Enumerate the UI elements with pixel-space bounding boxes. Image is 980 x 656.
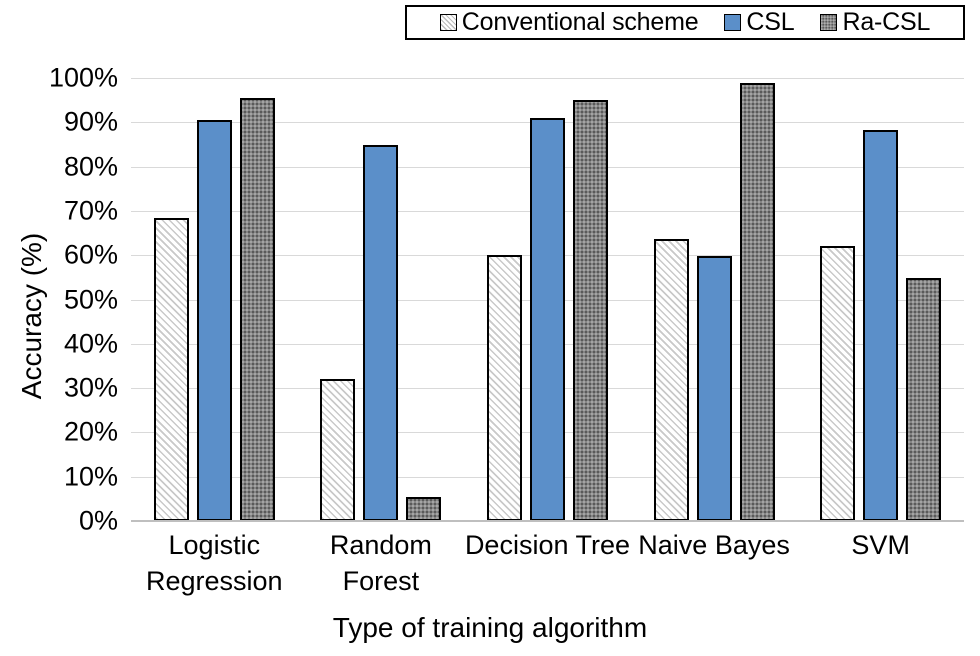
- legend-label-conventional-scheme: Conventional scheme: [462, 10, 699, 35]
- x-axis-line: [131, 520, 964, 522]
- x-axis-title: Type of training algorithm: [0, 612, 980, 644]
- bar[interactable]: [363, 145, 398, 521]
- x-axis-tick-label-line: Decision Tree: [464, 527, 631, 563]
- y-axis-ticks: 100%90%80%70%60%50%40%30%20%10%0%: [36, 78, 124, 521]
- legend-swatch-csl-icon: [724, 14, 741, 31]
- bar[interactable]: [573, 100, 608, 521]
- bar[interactable]: [530, 118, 565, 521]
- bar[interactable]: [863, 130, 898, 521]
- bar-group: [797, 78, 964, 521]
- bar[interactable]: [197, 120, 232, 521]
- y-axis-tick-label: 30%: [64, 375, 118, 402]
- bar[interactable]: [240, 98, 275, 521]
- legend-swatch-racsl-icon: [820, 14, 837, 31]
- legend-label-csl: CSL: [746, 10, 794, 35]
- y-axis-tick-label: 50%: [64, 286, 118, 313]
- bar-group: [631, 78, 798, 521]
- x-axis-tick-label-line: Forest: [298, 563, 465, 599]
- bar[interactable]: [487, 255, 522, 521]
- bar-group: [298, 78, 465, 521]
- y-axis-tick-label: 60%: [64, 242, 118, 269]
- y-axis-tick-label: 100%: [49, 65, 118, 92]
- bar-group: [464, 78, 631, 521]
- legend-item-ra-csl[interactable]: Ra-CSL: [820, 10, 930, 35]
- bar-chart: Conventional scheme CSL Ra-CSL Accuracy …: [0, 0, 980, 656]
- y-axis-tick-label: 70%: [64, 197, 118, 224]
- bar-group: [131, 78, 298, 521]
- legend-swatch-conventional-icon: [440, 14, 457, 31]
- x-axis-tick-label-line: Regression: [131, 563, 298, 599]
- x-axis-tick-label-line: Naive Bayes: [631, 527, 798, 563]
- x-axis-tick-label-line: SVM: [797, 527, 964, 563]
- bar[interactable]: [697, 256, 732, 521]
- x-axis-tick-label: SVM: [797, 527, 964, 563]
- plot-area: [131, 78, 964, 521]
- x-axis-tick-labels: LogisticRegressionRandomForestDecision T…: [131, 527, 964, 607]
- x-axis-tick-label: Decision Tree: [464, 527, 631, 563]
- x-axis-tick-label: LogisticRegression: [131, 527, 298, 599]
- legend-item-csl[interactable]: CSL: [724, 10, 794, 35]
- bar[interactable]: [740, 83, 775, 521]
- bar[interactable]: [154, 218, 189, 521]
- y-axis-tick-label: 0%: [79, 508, 118, 535]
- x-axis-tick-label: Naive Bayes: [631, 527, 798, 563]
- bar[interactable]: [406, 497, 441, 521]
- legend-label-ra-csl: Ra-CSL: [842, 10, 930, 35]
- x-axis-tick-label: RandomForest: [298, 527, 465, 599]
- x-axis-tick-label-line: Random: [298, 527, 465, 563]
- chart-legend: Conventional scheme CSL Ra-CSL: [405, 5, 965, 40]
- bar[interactable]: [320, 379, 355, 521]
- y-axis-tick-label: 10%: [64, 463, 118, 490]
- legend-item-conventional-scheme[interactable]: Conventional scheme: [440, 10, 699, 35]
- bar[interactable]: [654, 239, 689, 521]
- bar[interactable]: [820, 246, 855, 521]
- y-axis-tick-label: 40%: [64, 330, 118, 357]
- x-axis-tick-label-line: Logistic: [131, 527, 298, 563]
- y-axis-tick-label: 80%: [64, 153, 118, 180]
- y-axis-tick-label: 90%: [64, 109, 118, 136]
- y-axis-tick-label: 20%: [64, 419, 118, 446]
- bar[interactable]: [906, 278, 941, 521]
